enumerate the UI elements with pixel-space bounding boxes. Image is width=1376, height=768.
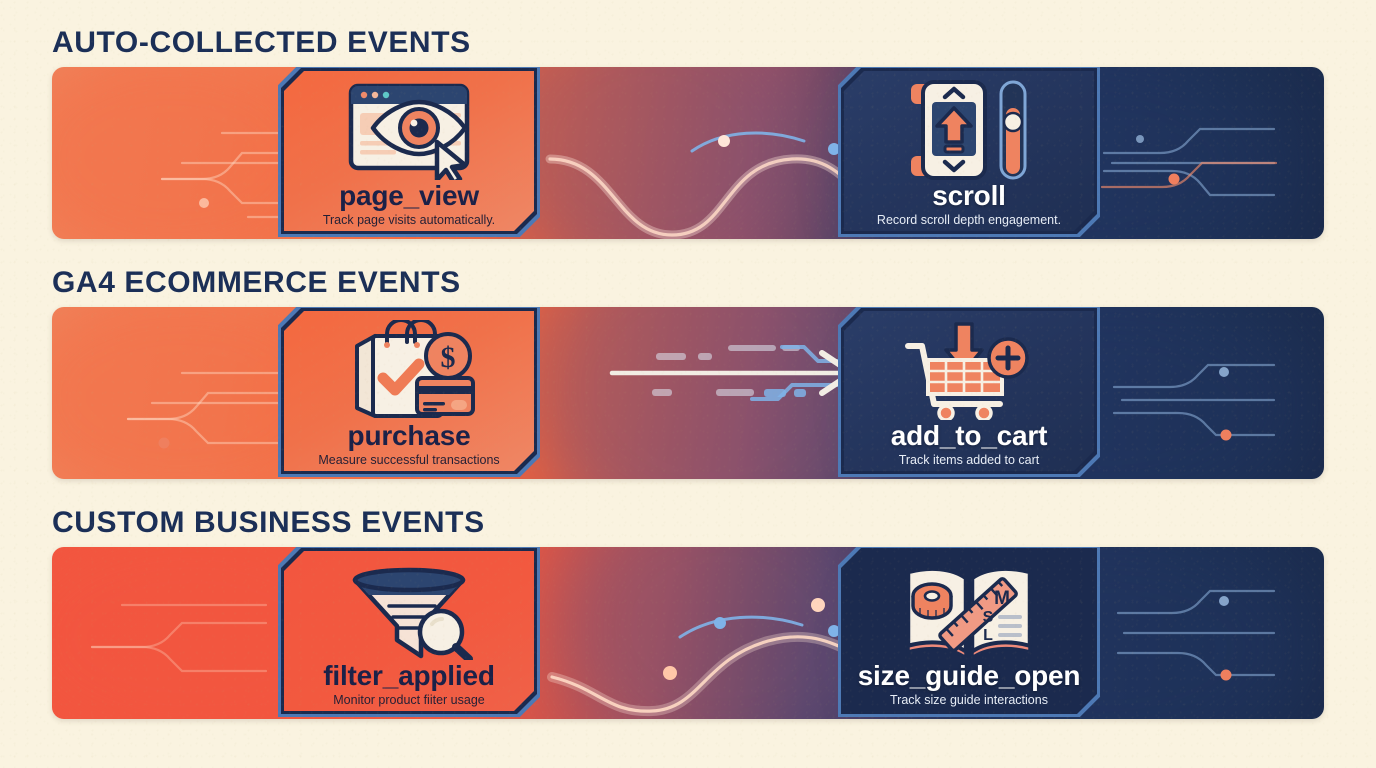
event-card-scroll[interactable]: scroll Record scroll depth engagement. (838, 67, 1100, 237)
event-description: Track page visits automatically. (278, 213, 540, 227)
card-text: add_to_cart Track items added to cart (838, 422, 1100, 467)
event-band: page_view Track page visits automaticall… (52, 67, 1324, 239)
event-name: page_view (278, 182, 540, 211)
flow-connector-arrow (52, 307, 1324, 479)
event-card-purchase[interactable]: $ purchase Measure successful transactio… (278, 307, 540, 477)
trace-node (159, 438, 170, 449)
card-text: size_guide_open Track size guide interac… (838, 662, 1100, 707)
card-text: purchase Measure successful transactions (278, 422, 540, 467)
svg-text:L: L (983, 627, 993, 644)
trace-node (1219, 367, 1229, 377)
flow-node (718, 135, 730, 147)
event-name: purchase (278, 422, 540, 451)
infographic-page: AUTO-COLLECTED EVENTS (0, 0, 1376, 768)
event-description: Track size guide interactions (838, 693, 1100, 707)
browser-eye-cursor-icon (333, 78, 485, 182)
event-description: Track items added to cart (838, 453, 1100, 467)
trace-node (1136, 135, 1144, 143)
event-band: filter_applied Monitor product fiiter us… (52, 547, 1324, 719)
trace-node (199, 198, 209, 208)
card-text: filter_applied Monitor product fiiter us… (278, 662, 540, 707)
event-card-size_guide_open[interactable]: M S L size_guide_open Track size guide i… (838, 547, 1100, 717)
funnel-magnifier-icon (339, 558, 479, 662)
event-name: size_guide_open (838, 662, 1100, 691)
flow-node (714, 617, 726, 629)
cart-plus-arrow-icon (904, 318, 1034, 422)
scroll-arrow-scrollbar-icon (901, 78, 1037, 182)
event-description: Measure successful transactions (278, 453, 540, 467)
section-custom-business: CUSTOM BUSINESS EVENTS (52, 508, 1324, 719)
flow-connector-curve (52, 67, 1324, 239)
event-description: Record scroll depth engagement. (838, 213, 1100, 227)
section-title: GA4 ECOMMERCE EVENTS (52, 268, 1324, 298)
svg-text:S: S (983, 609, 994, 626)
trace-node (1221, 670, 1232, 681)
section-auto-collected: AUTO-COLLECTED EVENTS (52, 28, 1324, 239)
svg-text:M: M (994, 588, 1010, 609)
event-name: filter_applied (278, 662, 540, 691)
event-card-filter_applied[interactable]: filter_applied Monitor product fiiter us… (278, 547, 540, 717)
event-description: Monitor product fiiter usage (278, 693, 540, 707)
flow-connector-curve (52, 547, 1324, 719)
shopping-bag-check-card-icon: $ (339, 318, 479, 422)
card-text: scroll Record scroll depth engagement. (838, 182, 1100, 227)
trace-node (1169, 174, 1180, 185)
event-card-add_to_cart[interactable]: add_to_cart Track items added to cart (838, 307, 1100, 477)
open-book-ruler-tape-icon: M S L (902, 558, 1036, 662)
svg-text:$: $ (441, 341, 456, 374)
event-band: $ purchase Measure successful transactio… (52, 307, 1324, 479)
section-title: AUTO-COLLECTED EVENTS (52, 28, 1324, 58)
event-name: add_to_cart (838, 422, 1100, 451)
card-text: page_view Track page visits automaticall… (278, 182, 540, 227)
section-title: CUSTOM BUSINESS EVENTS (52, 508, 1324, 538)
section-ga4-ecommerce: GA4 ECOMMERCE EVENTS (52, 268, 1324, 479)
event-card-page_view[interactable]: page_view Track page visits automaticall… (278, 67, 540, 237)
circuit-traces (52, 67, 1324, 239)
circuit-traces (52, 547, 1324, 719)
circuit-traces (52, 307, 1324, 479)
trace-node (1219, 596, 1229, 606)
trace-node (1221, 430, 1232, 441)
event-name: scroll (838, 182, 1100, 211)
flow-node (811, 598, 825, 612)
flow-node (663, 666, 677, 680)
